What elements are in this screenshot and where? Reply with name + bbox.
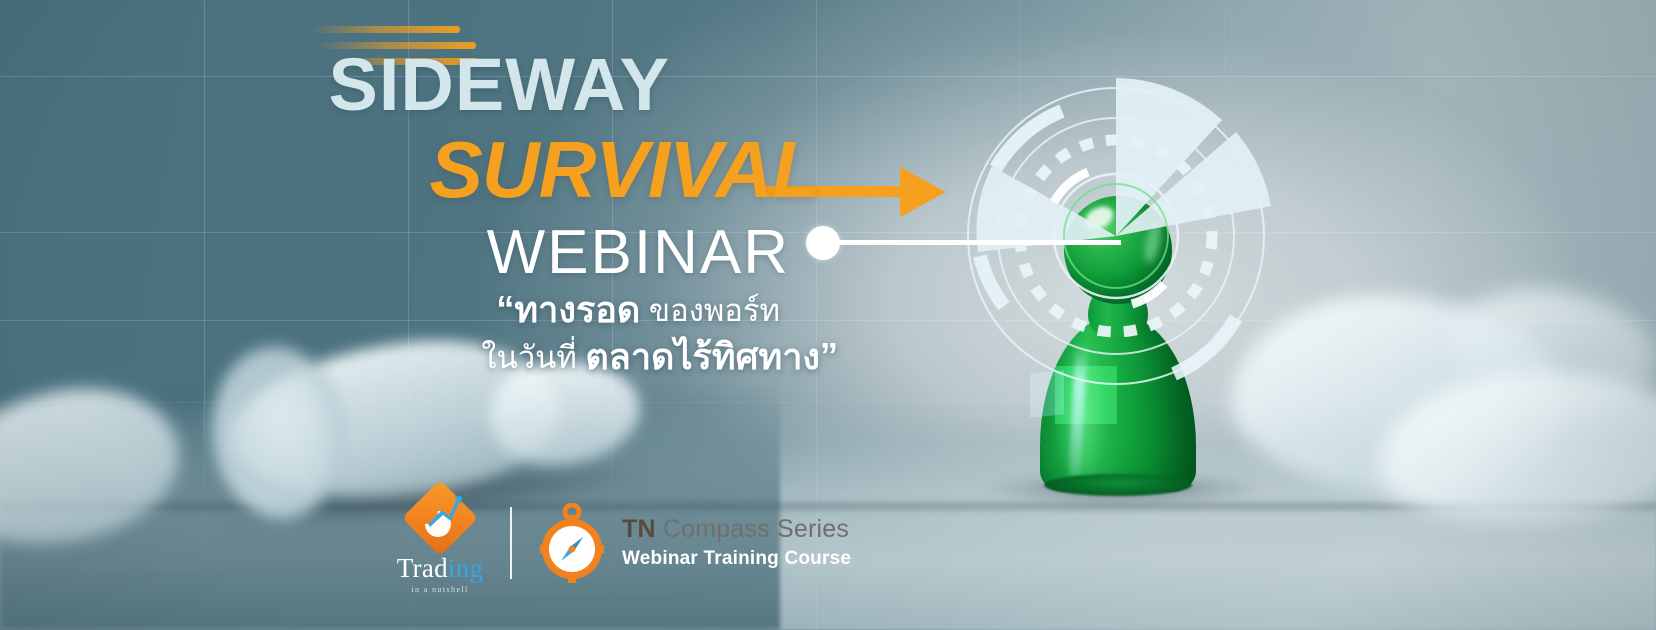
title-line-webinar: WEBINAR — [0, 222, 880, 284]
trading-diamond-arrow-icon — [402, 480, 478, 556]
compass-series-subtitle: Webinar Training Course — [622, 547, 851, 571]
trading-word-blue: ing — [448, 553, 483, 583]
compass-text-block: TN Compass Series Webinar Training Cours… — [622, 514, 851, 571]
title-line-survival-row: SURVIVAL — [0, 128, 880, 220]
trading-tagline: in a nutshell — [411, 585, 468, 594]
compass-title-bold: TN — [622, 515, 656, 543]
footer-logos: Trading in a nutshell — [392, 491, 851, 594]
thai-subtitle: “ทางรอด ของพอร์ท ในวันที่ ตลาดไร้ทิศทาง” — [0, 286, 848, 380]
compass-series-title: TN Compass Series — [622, 514, 851, 545]
webinar-banner: SIDEWAY SURVIVAL WEBINAR “ทางรอด ของพอร์… — [0, 0, 1656, 630]
title-line-sideway: SIDEWAY — [0, 48, 880, 122]
compass-title-rest: Compass Series — [656, 515, 849, 543]
footer-divider — [510, 507, 512, 579]
thai-light-2: ในวันที่ — [481, 340, 576, 375]
thai-subtitle-line-1: “ทางรอด ของพอร์ท — [0, 286, 848, 333]
thai-bold-2: ตลาดไร้ทิศทาง — [585, 336, 820, 377]
trading-wordmark: Trading — [397, 555, 484, 582]
orange-arrow-head-icon — [900, 167, 946, 217]
thai-subtitle-line-2: ในวันที่ ตลาดไร้ทิศทาง” — [0, 333, 848, 380]
quote-open: “ — [496, 288, 514, 329]
thai-bold-1: ทางรอด — [514, 289, 640, 330]
title-block: SIDEWAY SURVIVAL WEBINAR — [0, 48, 880, 284]
trading-logo[interactable]: Trading in a nutshell — [392, 491, 488, 594]
quote-close: ” — [820, 335, 838, 376]
white-dot-icon — [806, 226, 840, 260]
title-line-survival: SURVIVAL — [429, 128, 820, 212]
compass-icon — [538, 503, 606, 583]
thai-light-1: ของพอร์ท — [649, 293, 780, 328]
trading-word-white: Trad — [397, 553, 448, 583]
leader-line-icon — [838, 240, 1121, 245]
